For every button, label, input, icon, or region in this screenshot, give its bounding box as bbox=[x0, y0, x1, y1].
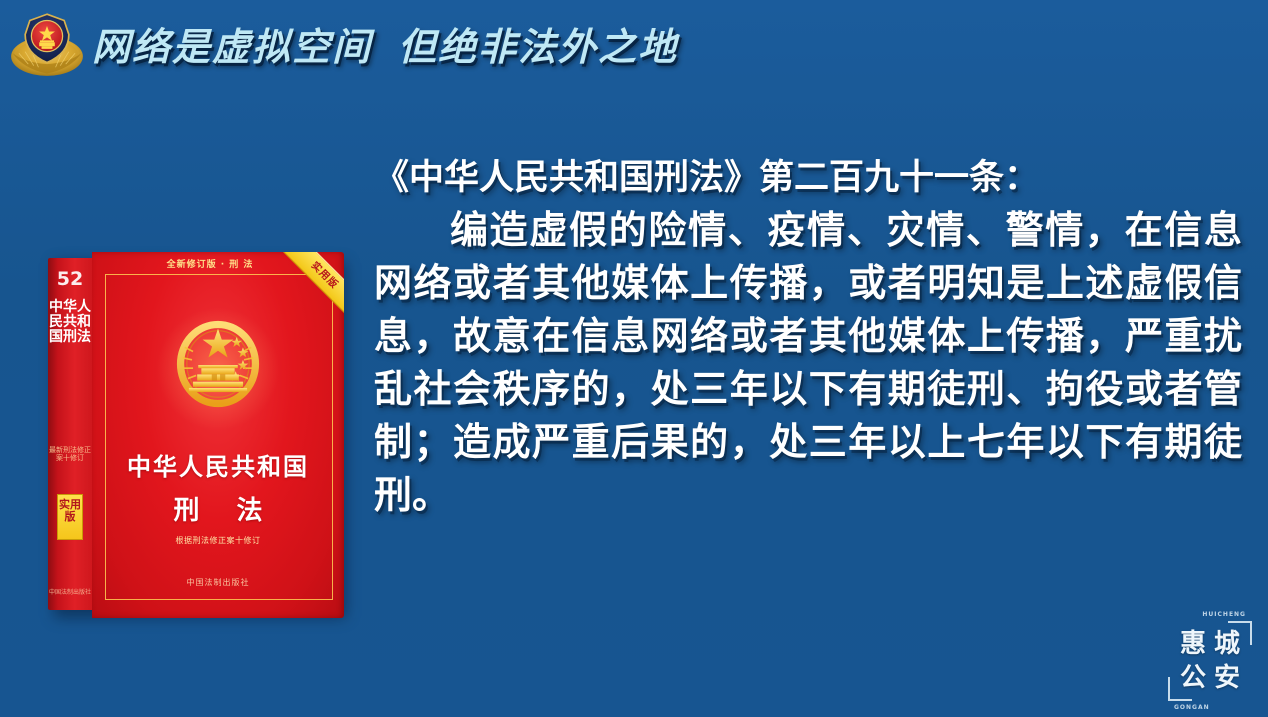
law-article-heading: 《中华人民共和国刑法》第二百九十一条： bbox=[374, 152, 1242, 204]
police-badge-icon bbox=[8, 8, 86, 86]
book-spine-subtitle: 最新刑法修正案十修订 bbox=[48, 446, 92, 462]
law-article-block: 《中华人民共和国刑法》第二百九十一条： 编造虚假的险情、疫情、灾情、警情，在信息… bbox=[374, 152, 1242, 522]
header-title-part1: 网络是虚拟空间 bbox=[92, 25, 372, 69]
book-cover-title-line2: 刑 法 bbox=[92, 490, 344, 527]
watermark-char-4: 安 bbox=[1210, 661, 1244, 695]
book-spine-number: 52 bbox=[48, 268, 92, 290]
header-title-part2: 但绝非法外之地 bbox=[398, 25, 678, 69]
watermark-char-2: 城 bbox=[1210, 627, 1244, 661]
watermark-char-1: 惠 bbox=[1176, 627, 1210, 661]
watermark-pinyin-bottom: GONGAN bbox=[1174, 704, 1210, 711]
law-paragraph: 编造虚假的险情、疫情、灾情、警情，在信息网络或者其他媒体上传播，或者明知是上述虚… bbox=[374, 204, 1242, 522]
law-article-body: 编造虚假的险情、疫情、灾情、警情，在信息网络或者其他媒体上传播，或者明知是上述虚… bbox=[374, 204, 1242, 522]
book-cover-note: 根据刑法修正案十修订 bbox=[92, 535, 344, 546]
criminal-law-book-image: 52 中华人民共和国刑法 最新刑法修正案十修订 实用版 中国法制出版社 全新修订… bbox=[48, 252, 348, 618]
header-title: 网络是虚拟空间但绝非法外之地 bbox=[92, 16, 678, 71]
book-spine-title: 中华人民共和国刑法 bbox=[48, 300, 92, 345]
book-spine-tag: 实用版 bbox=[57, 494, 83, 540]
slide-canvas: 网络是虚拟空间但绝非法外之地 52 中华人民共和国刑法 最新刑法修正案十修订 实… bbox=[0, 0, 1268, 717]
watermark-logo-huicheng-police: HUICHENG GONGAN 惠 城 公 安 bbox=[1168, 619, 1252, 703]
book-spine: 52 中华人民共和国刑法 最新刑法修正案十修订 实用版 中国法制出版社 bbox=[48, 258, 92, 610]
watermark-pinyin-top: HUICHENG bbox=[1202, 611, 1246, 618]
header-bar: 网络是虚拟空间但绝非法外之地 bbox=[0, 0, 1268, 96]
book-front-cover: 全新修订版 · 刑 法 实用版 bbox=[92, 252, 344, 618]
book-spine-publisher: 中国法制出版社 bbox=[48, 589, 92, 596]
watermark-char-3: 公 bbox=[1176, 661, 1210, 695]
book-cover-publisher: 中国法制出版社 bbox=[92, 577, 344, 588]
watermark-character-grid: 惠 城 公 安 bbox=[1176, 627, 1244, 695]
national-emblem-icon bbox=[166, 312, 270, 416]
book-cover-title-line1: 中华人民共和国 bbox=[92, 447, 344, 482]
